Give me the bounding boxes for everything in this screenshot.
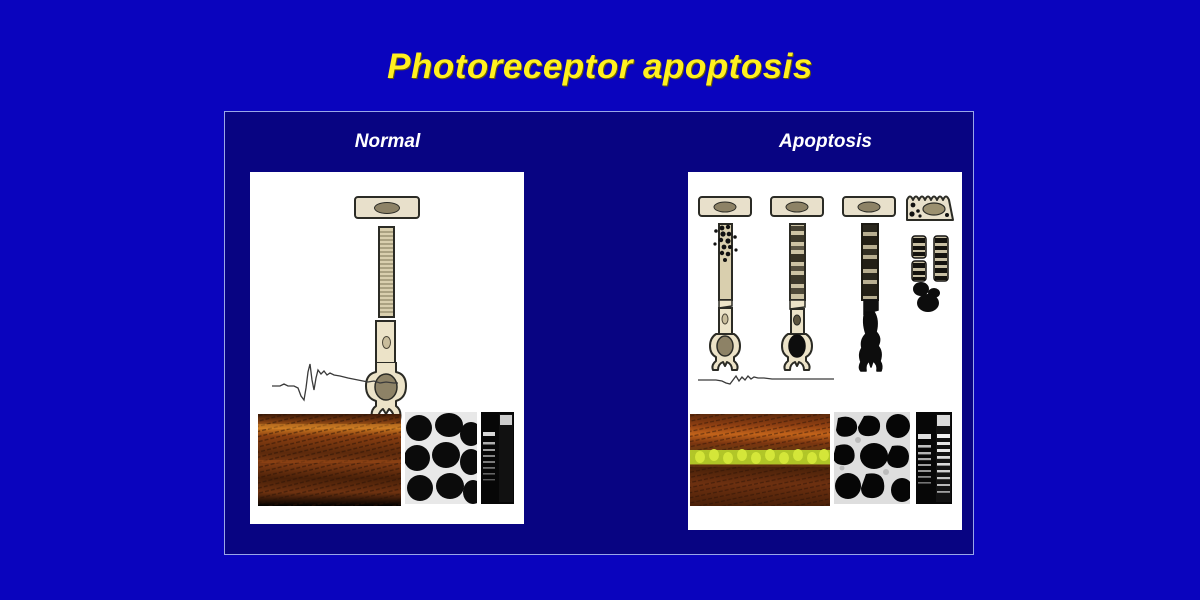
rpe-nucleus — [374, 202, 400, 214]
gel-image — [481, 412, 514, 504]
em-image — [834, 412, 910, 504]
page-title: Photoreceptor apoptosis — [0, 47, 1200, 87]
normal-dna-gel — [481, 412, 514, 504]
rpe-phagocytosing-cell — [904, 190, 956, 224]
outer-segment-discs — [380, 228, 393, 316]
rpe-nucleus-stage3 — [858, 201, 881, 212]
rpe-nucleus-stage2 — [786, 201, 809, 212]
apoptotic-nuclei-em — [834, 412, 910, 504]
ellipsoid — [382, 336, 391, 349]
normal-photoreceptor-panel — [250, 172, 524, 524]
em-image — [405, 412, 477, 504]
gel-image — [916, 412, 952, 504]
slide-canvas: Photoreceptor apoptosis Normal Apoptosis — [0, 0, 1200, 600]
apoptotic-retina-histology — [690, 414, 830, 506]
normal-retina-histology — [258, 414, 401, 506]
rpe-nucleus-stage1 — [714, 201, 737, 212]
rpe-cell-stage1 — [698, 196, 752, 217]
stage1-cell-body — [708, 222, 742, 372]
rpe-cell — [354, 196, 420, 219]
rpe-cell-stage3 — [842, 196, 896, 217]
apoptotic-bodies — [910, 280, 950, 314]
rpe-cell-stage2 — [770, 196, 824, 217]
normal-erg-trace — [270, 358, 400, 406]
column-header-normal: Normal — [250, 131, 525, 153]
normal-nuclei-em — [405, 412, 477, 504]
apoptotic-erg-trace — [696, 362, 836, 396]
histology-image — [690, 414, 830, 506]
apoptotic-dna-gel — [916, 412, 952, 504]
outer-segment — [378, 226, 395, 318]
stage2-cell-body — [780, 222, 814, 372]
stage3-cell-body — [852, 222, 886, 372]
histology-image — [258, 414, 401, 506]
apoptotic-photoreceptor-panel — [688, 172, 962, 530]
column-header-apoptosis: Apoptosis — [688, 131, 963, 153]
